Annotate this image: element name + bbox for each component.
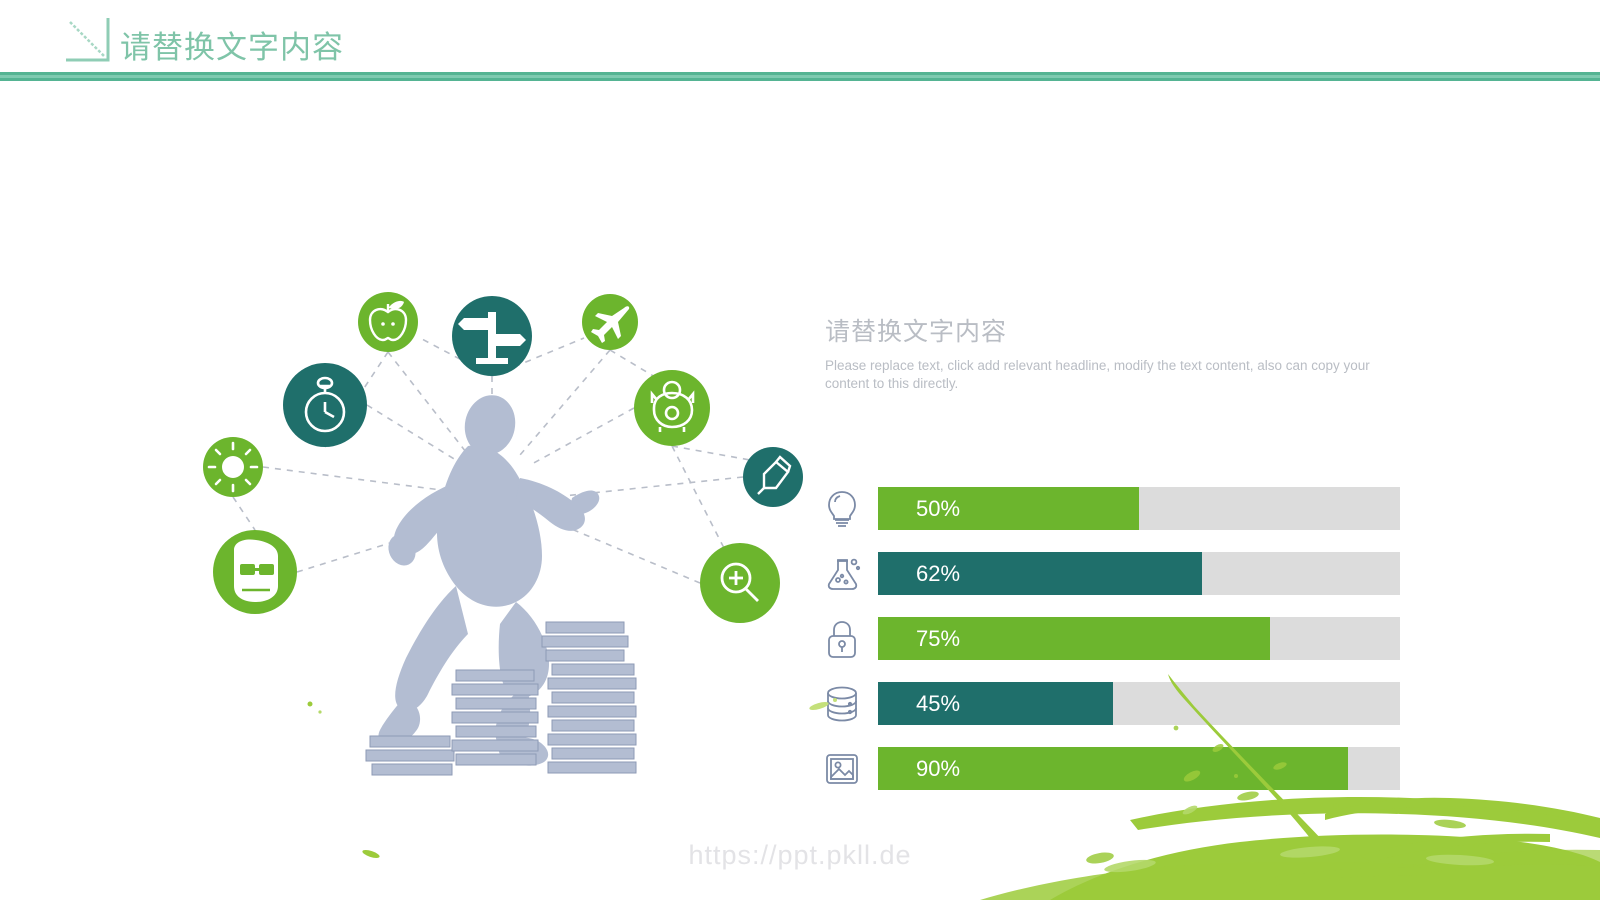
- diagram-node-stopwatch[interactable]: [283, 363, 367, 447]
- chart-row: 62%: [812, 552, 1412, 595]
- diagram-node-piggy-bank[interactable]: [634, 370, 710, 446]
- sun-icon: [209, 443, 257, 491]
- arrow-down-right-icon: [64, 16, 110, 62]
- description-body: Please replace text, click add relevant …: [825, 357, 1405, 393]
- diagram-node-signpost[interactable]: [452, 296, 532, 376]
- lightbulb-icon: [820, 487, 864, 531]
- diagram-node-apple[interactable]: [358, 292, 418, 352]
- diagram-node-airplane[interactable]: [582, 294, 638, 350]
- progress-value: 75%: [916, 626, 960, 652]
- chart-row: 45%: [812, 682, 1412, 725]
- description-heading: 请替换文字内容: [825, 312, 1405, 348]
- lock-icon: [820, 617, 864, 661]
- progress-fill: [878, 682, 1113, 725]
- diagram-node-glasses-face[interactable]: [213, 530, 297, 614]
- chart-row: 75%: [812, 617, 1412, 660]
- image-icon: [820, 747, 864, 791]
- page-title: 请替换文字内容: [120, 22, 344, 67]
- grass-fleck-decoration: [805, 690, 845, 720]
- description-block: 请替换文字内容 Please replace text, click add r…: [825, 312, 1405, 393]
- flask-icon: [820, 552, 864, 596]
- progress-value: 62%: [916, 561, 960, 587]
- progress-bar-chart: 50% 62% 75%: [812, 487, 1412, 790]
- progress-track: 62%: [878, 552, 1400, 595]
- watermark: https://ppt.pkll.de: [0, 840, 1600, 871]
- progress-track: 50%: [878, 487, 1400, 530]
- progress-value: 50%: [916, 496, 960, 522]
- progress-value: 45%: [916, 691, 960, 717]
- glasses-face-icon: [234, 539, 278, 602]
- diagram-node-sun[interactable]: [203, 437, 263, 497]
- progress-track: 90%: [878, 747, 1400, 790]
- page-header: 请替换文字内容: [0, 0, 1600, 82]
- network-diagram: [180, 250, 820, 810]
- header-divider-highlight: [0, 75, 1600, 78]
- progress-track: 45%: [878, 682, 1400, 725]
- chart-row: 50%: [812, 487, 1412, 530]
- progress-value: 90%: [916, 756, 960, 782]
- grass-fleck-decoration: [300, 690, 330, 720]
- diagram-node-pen-nib[interactable]: [743, 447, 803, 507]
- chart-row: 90%: [812, 747, 1412, 790]
- progress-track: 75%: [878, 617, 1400, 660]
- header-divider: [0, 72, 1600, 81]
- diagram-node-magnifier[interactable]: [700, 543, 780, 623]
